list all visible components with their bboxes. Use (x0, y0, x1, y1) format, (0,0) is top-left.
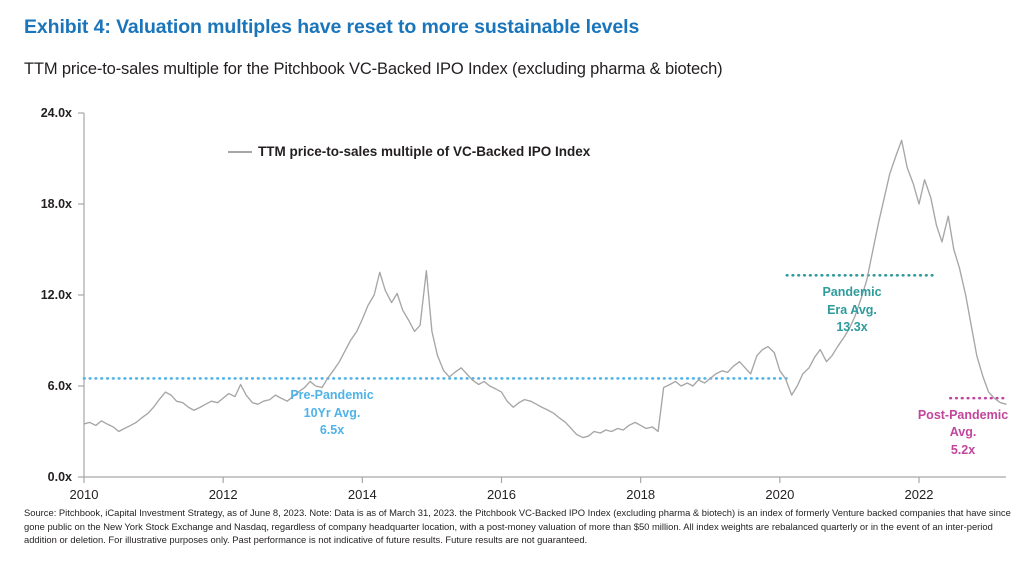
chart-legend: TTM price-to-sales multiple of VC-Backed… (228, 144, 590, 159)
annotation-pandemic-era-value: 13.3x (822, 319, 881, 336)
x-axis-tick-label: 2018 (626, 487, 655, 502)
annotation-pre-pandemic-value: 6.5x (290, 422, 373, 439)
annotation-pre-pandemic: Pre-Pandemic 10Yr Avg. 6.5x (290, 387, 373, 439)
y-axis-tick-label: 0.0x (14, 470, 72, 484)
annotation-pandemic-era: Pandemic Era Avg. 13.3x (822, 284, 881, 336)
annotation-post-pandemic-value: 5.2x (918, 442, 1008, 459)
annotation-pandemic-era-line1: Pandemic (822, 284, 881, 301)
annotation-pandemic-era-line2: Era Avg. (822, 302, 881, 319)
y-axis-tick-label: 18.0x (14, 197, 72, 211)
annotation-pre-pandemic-line2: 10Yr Avg. (290, 405, 373, 422)
x-axis-tick-label: 2012 (209, 487, 238, 502)
x-axis-tick-label: 2014 (348, 487, 377, 502)
annotation-post-pandemic-line1: Post-Pandemic (918, 407, 1008, 424)
x-axis-tick-label: 2010 (70, 487, 99, 502)
annotation-post-pandemic-line2: Avg. (918, 424, 1008, 441)
x-axis-tick-label: 2022 (905, 487, 934, 502)
annotation-pre-pandemic-line1: Pre-Pandemic (290, 387, 373, 404)
legend-line-swatch (228, 151, 252, 153)
y-axis-tick-label: 6.0x (14, 379, 72, 393)
y-axis-tick-label: 24.0x (14, 106, 72, 120)
legend-item-label: TTM price-to-sales multiple of VC-Backed… (258, 144, 590, 159)
x-axis-tick-label: 2020 (765, 487, 794, 502)
annotation-post-pandemic: Post-Pandemic Avg. 5.2x (918, 407, 1008, 459)
exhibit-page: Exhibit 4: Valuation multiples have rese… (0, 0, 1024, 576)
source-footnote: Source: Pitchbook, iCapital Investment S… (24, 506, 1012, 547)
y-axis-tick-label: 12.0x (14, 288, 72, 302)
x-axis-tick-label: 2016 (487, 487, 516, 502)
